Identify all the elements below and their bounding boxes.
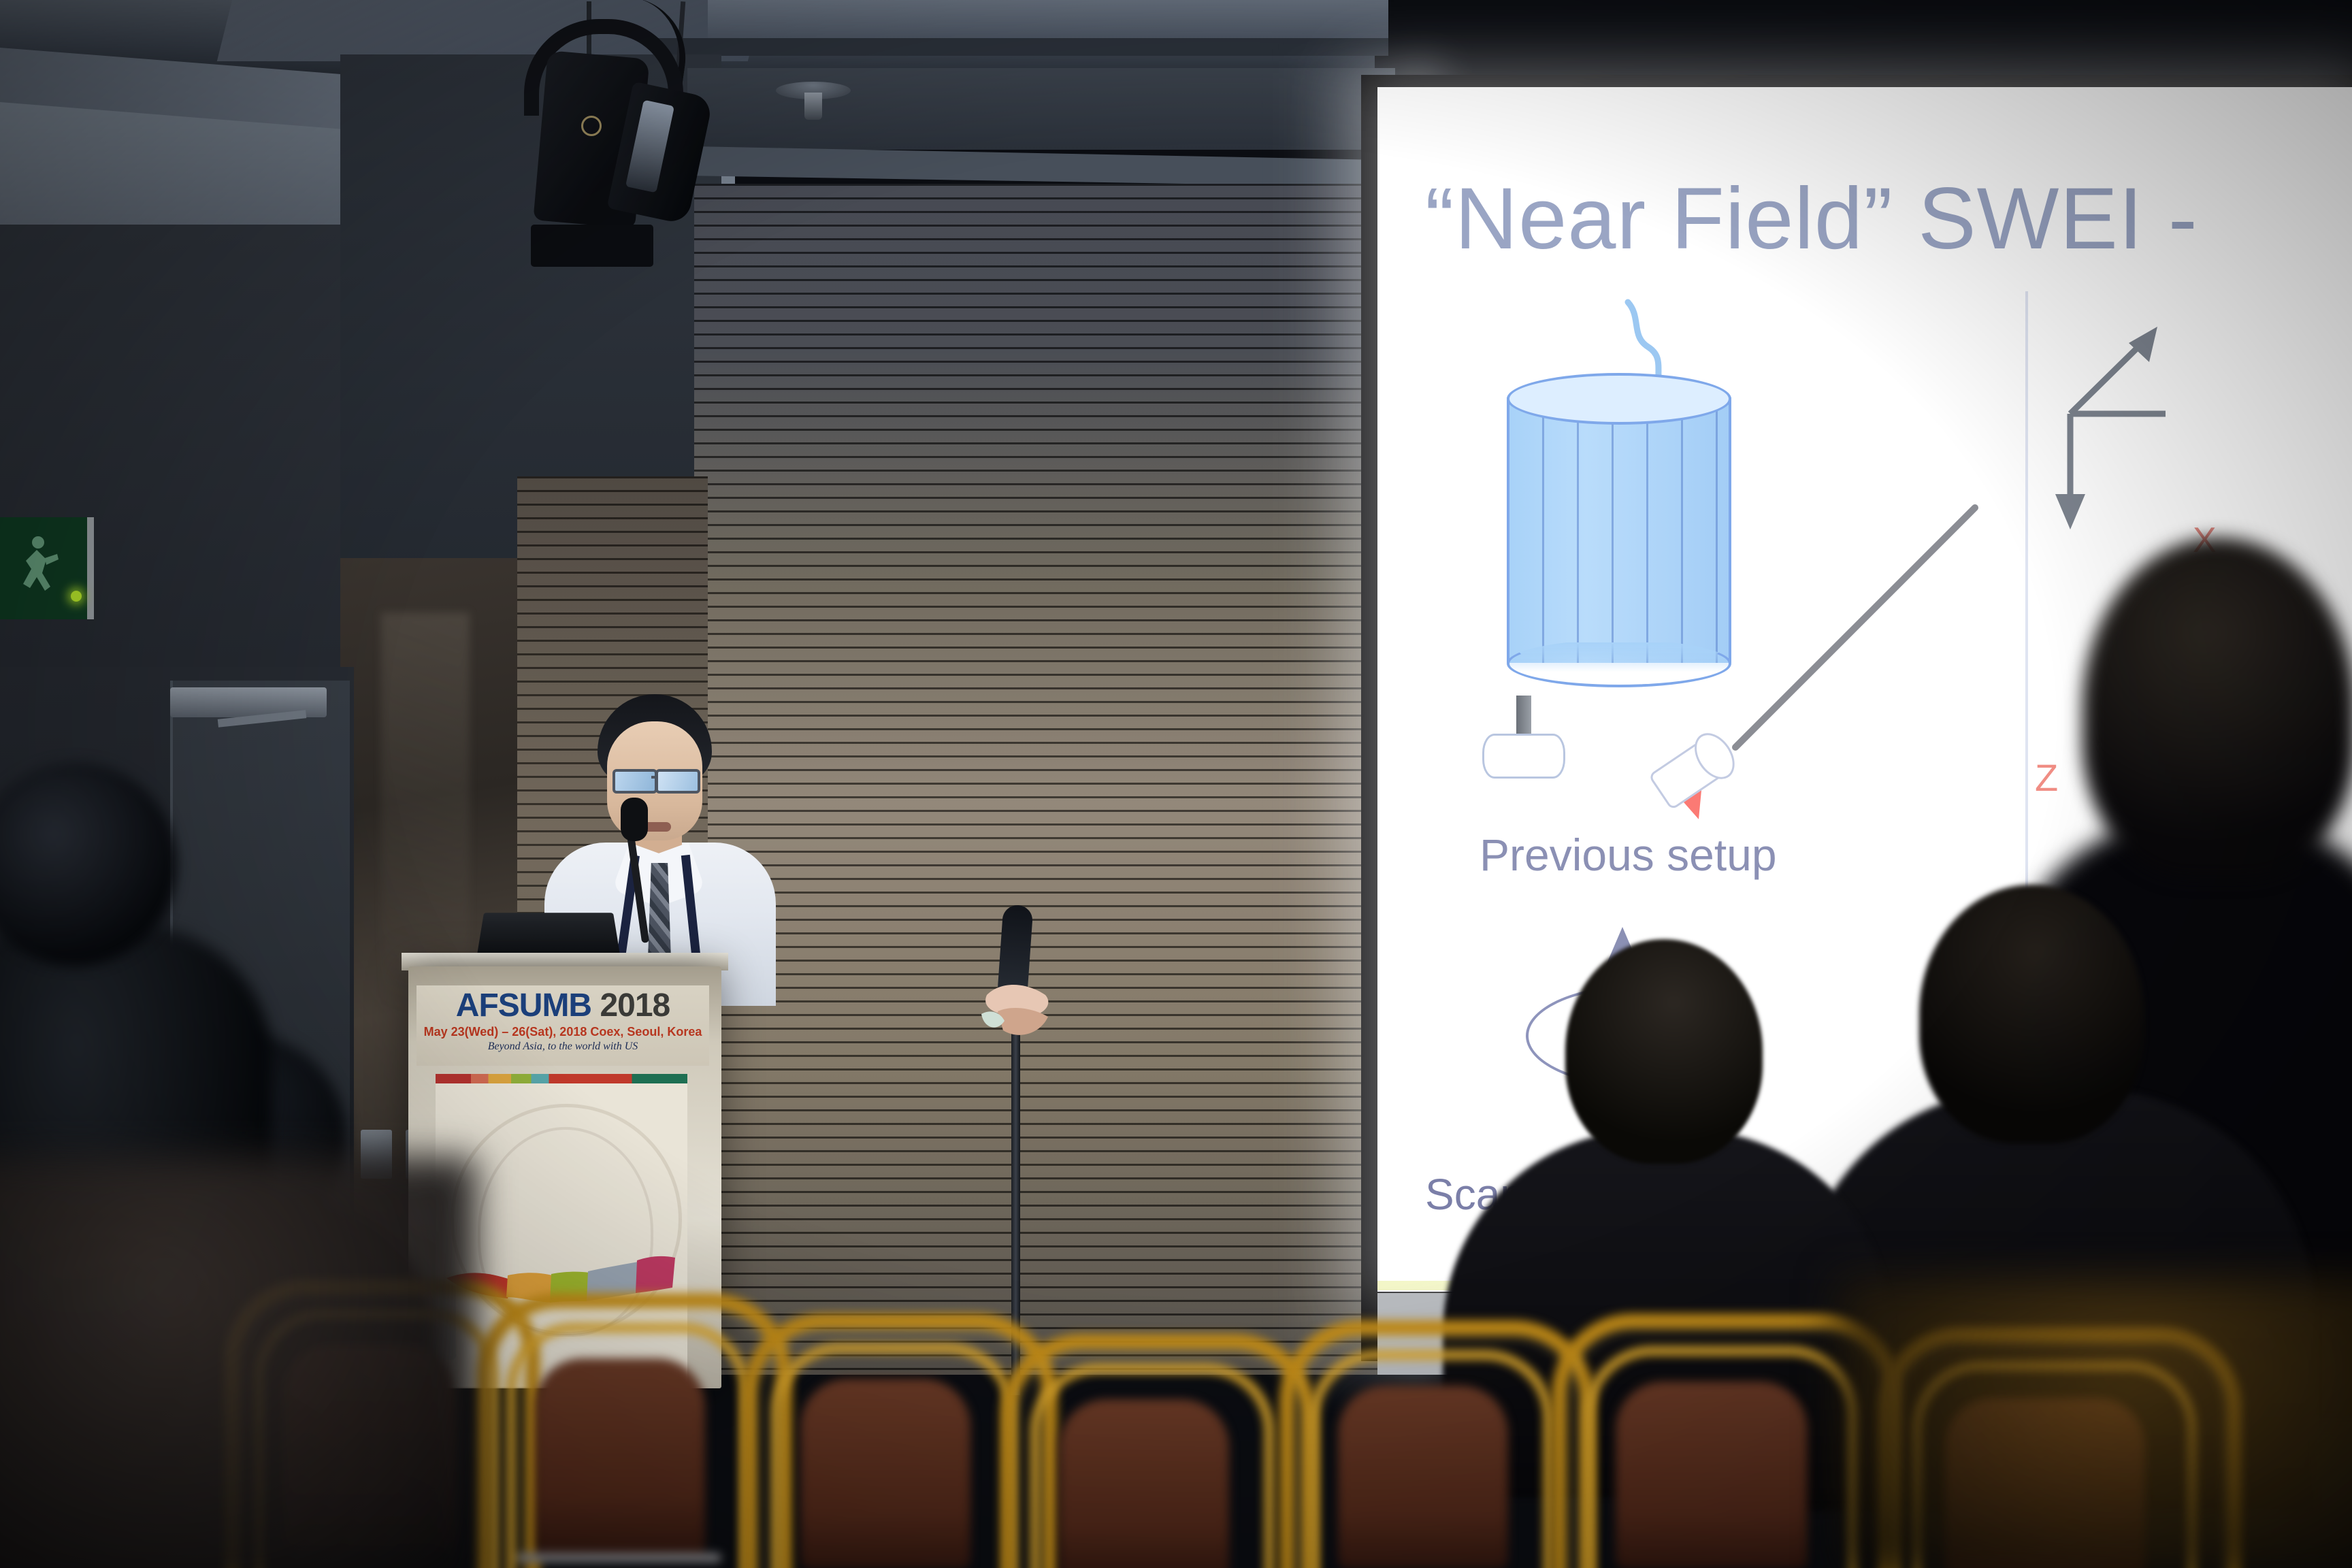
exit-sign-led	[71, 591, 82, 602]
spotlight-base-plate	[531, 225, 653, 267]
caption-previous-setup: Previous setup	[1480, 829, 1777, 881]
ceiling-speaker-stem	[804, 93, 822, 120]
axis-label-z: Z	[2035, 755, 2058, 800]
phantom-stem	[1516, 696, 1531, 738]
ceiling-tile	[708, 0, 1388, 44]
audience-member-head	[1919, 885, 2144, 1143]
foreground-blur-left	[0, 1157, 476, 1568]
podium-microphone-head	[621, 798, 648, 841]
microphone-ribbon-decoration	[975, 975, 1063, 1056]
eyeglasses-icon	[612, 769, 657, 794]
sign-title-row: AFSUMB 2018	[416, 990, 709, 1022]
phantom-bottom-ellipse	[1507, 640, 1731, 687]
probe-cable-icon	[1729, 504, 1980, 757]
foreground-blur-right	[1837, 1279, 2352, 1568]
podium-laptop[interactable]	[476, 913, 620, 957]
sign-brand: AFSUMB	[456, 987, 591, 1024]
slide-title: “Near Field” SWEI -	[1425, 169, 2198, 269]
sign-dates: May 23(Wed) – 26(Sat), 2018 Coex, Seoul,…	[416, 1025, 709, 1039]
cylinder-phantom	[1507, 373, 1731, 686]
audience-member-head	[1565, 939, 1763, 1164]
podium-conference-sign: AFSUMB 2018 May 23(Wed) – 26(Sat), 2018 …	[416, 985, 709, 1066]
banner-color-stripes	[436, 1074, 687, 1083]
audience-member-head	[2082, 538, 2352, 878]
ceiling-beam	[653, 38, 1388, 56]
sign-tagline: Beyond Asia, to the world with US	[416, 1041, 709, 1053]
coordinate-axis-triad-icon	[2029, 312, 2234, 529]
running-man-icon	[11, 534, 61, 602]
eyeglasses-bridge	[651, 776, 658, 779]
sign-year: 2018	[600, 987, 670, 1024]
eyeglasses-icon	[655, 769, 700, 794]
phantom-base-disc	[1482, 734, 1565, 779]
emergency-exit-sign	[0, 517, 94, 619]
banquet-chair[interactable]	[1000, 1334, 1320, 1568]
ceiling-spotlight	[505, 7, 696, 259]
phantom-body	[1507, 397, 1731, 663]
spotlight-brand-badge	[581, 116, 602, 136]
wall-upper-left	[0, 225, 381, 742]
phantom-top-ellipse	[1507, 373, 1731, 425]
conference-hall-photo: “Near Field” SWEI - Previous set	[0, 0, 2352, 1568]
